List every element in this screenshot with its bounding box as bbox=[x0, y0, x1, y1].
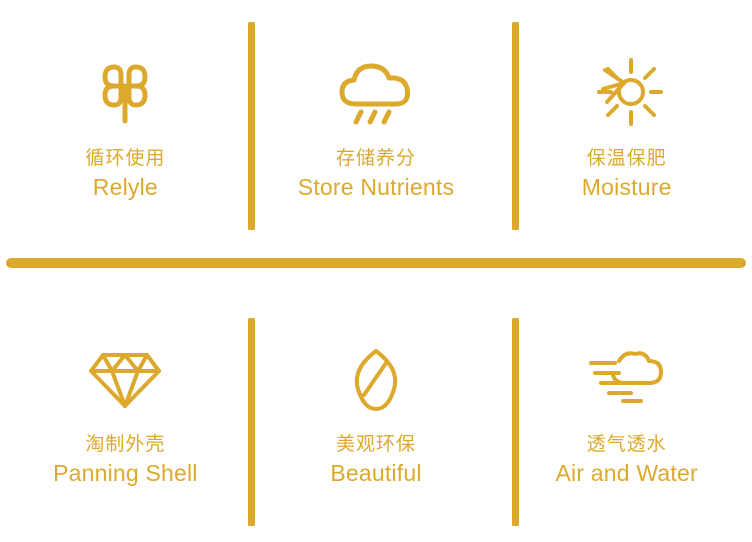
feature-label-en: Panning Shell bbox=[53, 458, 198, 488]
feature-label-en: Store Nutrients bbox=[298, 172, 454, 202]
feature-label-cn: 透气透水 bbox=[587, 432, 667, 458]
feature-label-en: Relyle bbox=[93, 172, 158, 202]
feature-label-cn: 循环使用 bbox=[85, 146, 165, 172]
diamond-icon bbox=[85, 344, 165, 416]
feature-item-moisture: 保温保肥 Moisture bbox=[501, 0, 752, 258]
feature-row-top: 循环使用 Relyle 存储养分 Store Nutrients bbox=[0, 0, 752, 258]
four-petal-clover-icon bbox=[90, 58, 160, 130]
horizontal-divider bbox=[6, 258, 746, 268]
feature-item-store-nutrients: 存储养分 Store Nutrients bbox=[251, 0, 502, 258]
sun-icon bbox=[591, 58, 663, 130]
feature-item-panning-shell: 淘制外壳 Panning Shell bbox=[0, 282, 251, 542]
feature-label-en: Beautiful bbox=[330, 458, 421, 488]
feature-item-beautiful: 美观环保 Beautiful bbox=[251, 282, 502, 542]
leaf-icon bbox=[346, 344, 406, 416]
wind-cloud-icon bbox=[585, 344, 669, 416]
vertical-divider bbox=[248, 22, 255, 230]
feature-grid: 循环使用 Relyle 存储养分 Store Nutrients bbox=[0, 0, 752, 542]
feature-item-air-and-water: 透气透水 Air and Water bbox=[501, 282, 752, 542]
feature-label-cn: 淘制外壳 bbox=[85, 432, 165, 458]
feature-label-cn: 保温保肥 bbox=[587, 146, 667, 172]
feature-label-en: Moisture bbox=[582, 172, 672, 202]
feature-label-cn: 美观环保 bbox=[336, 432, 416, 458]
feature-row-bottom: 淘制外壳 Panning Shell 美观环保 Beautiful bbox=[0, 282, 752, 542]
feature-label-cn: 存储养分 bbox=[336, 146, 416, 172]
rain-cloud-icon bbox=[334, 58, 418, 130]
feature-label-en: Air and Water bbox=[556, 458, 698, 488]
vertical-divider bbox=[512, 22, 519, 230]
feature-item-relyle: 循环使用 Relyle bbox=[0, 0, 251, 258]
